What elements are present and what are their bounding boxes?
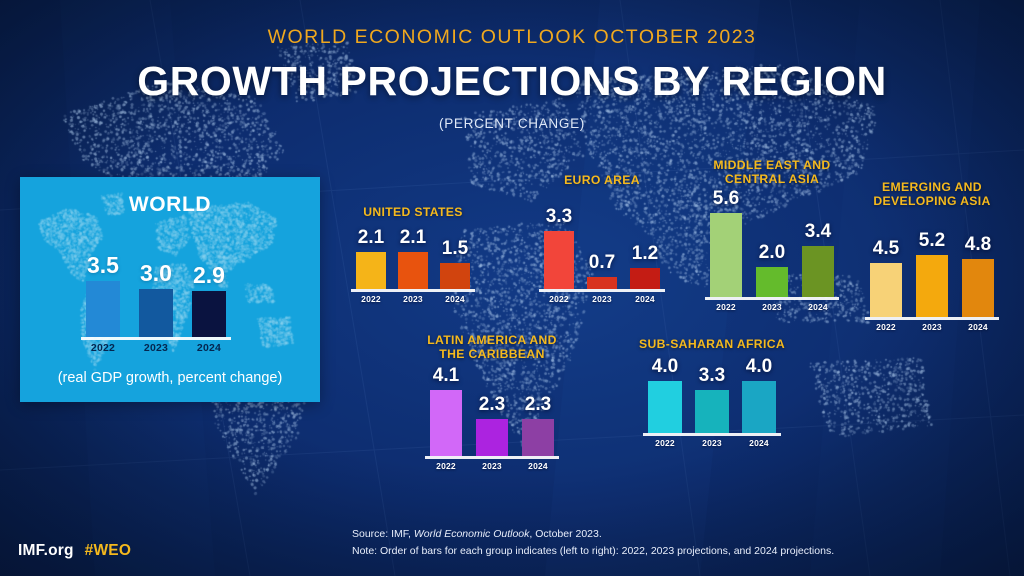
chart-baseline (81, 337, 231, 340)
bar-year-label: 2022 (862, 322, 910, 332)
source-suffix: , October 2023. (529, 528, 601, 540)
bar (522, 419, 554, 456)
region-title: SUB-SAHARAN AFRICA (618, 337, 806, 351)
bar (430, 390, 462, 456)
bar (86, 281, 120, 337)
bar-year-label: 2024 (734, 438, 784, 448)
bar-value-label: 2.3 (512, 394, 564, 416)
chart-baseline (425, 456, 559, 459)
bar-year-label: 2022 (422, 461, 470, 471)
bar (695, 390, 729, 433)
region-title: EMERGING ANDDEVELOPING ASIA (840, 180, 1024, 208)
bar-year-label: 2023 (468, 461, 516, 471)
bar (192, 291, 226, 337)
bar-year-label: 2023 (908, 322, 956, 332)
world-panel-title: WORLD (20, 193, 320, 217)
bar (139, 289, 173, 337)
bar (916, 255, 948, 317)
bar-value-label: 3.0 (129, 260, 183, 287)
bar (476, 419, 508, 456)
bar-value-label: 2.3 (466, 394, 518, 416)
region-chart-group: EMERGING ANDDEVELOPING ASIA4.520225.2202… (862, 0, 1024, 576)
bar (742, 381, 776, 433)
bar-value-label: 4.5 (860, 238, 912, 260)
bar-value-label: 3.5 (76, 252, 130, 279)
region-title-line: THE CARIBBEAN (400, 347, 584, 361)
region-title-line: EMERGING AND (840, 180, 1024, 194)
region-chart-group: LATIN AMERICA ANDTHE CARIBBEAN4.120222.3… (422, 0, 632, 576)
region-title: LATIN AMERICA ANDTHE CARIBBEAN (400, 333, 584, 361)
source-line: Source: IMF, World Economic Outlook, Oct… (352, 526, 834, 543)
region-title-line: SUB-SAHARAN AFRICA (618, 337, 806, 351)
source-prefix: Source: IMF, (352, 528, 414, 540)
chart-baseline (643, 433, 781, 436)
source-publication: World Economic Outlook (414, 528, 530, 540)
bar (962, 259, 994, 317)
imf-org-label[interactable]: IMF.org (18, 542, 74, 559)
world-bar-chart: 3.520223.020232.92024 (80, 232, 265, 342)
bar-value-label: 4.0 (732, 356, 786, 378)
region-chart-group: SUB-SAHARAN AFRICA4.020223.320234.02024 (640, 0, 850, 576)
world-panel: WORLD 3.520223.020232.92024 (real GDP gr… (20, 177, 320, 402)
footer-notes: Source: IMF, World Economic Outlook, Oct… (352, 526, 834, 560)
bar-value-label: 4.1 (420, 365, 472, 387)
bar-year-label: 2024 (184, 342, 234, 354)
bar (870, 263, 902, 317)
note-line: Note: Order of bars for each group indic… (352, 543, 834, 560)
bar-value-label: 4.0 (638, 356, 692, 378)
world-panel-note: (real GDP growth, percent change) (20, 370, 320, 386)
bar-year-label: 2024 (514, 461, 562, 471)
region-title-line: DEVELOPING ASIA (840, 194, 1024, 208)
bar-year-label: 2022 (348, 294, 394, 304)
weo-hashtag-label[interactable]: #WEO (85, 542, 131, 559)
region-title-line: LATIN AMERICA AND (400, 333, 584, 347)
bar (356, 252, 386, 289)
bar-value-label: 2.9 (182, 262, 236, 289)
bar-value-label: 4.8 (952, 234, 1004, 256)
bar-year-label: 2022 (78, 342, 128, 354)
bar-year-label: 2024 (954, 322, 1002, 332)
bar-year-label: 2023 (131, 342, 181, 354)
bar-year-label: 2023 (687, 438, 737, 448)
bar (648, 381, 682, 433)
footer-brand: IMF.org#WEO (18, 542, 131, 560)
chart-baseline (865, 317, 999, 320)
bar-value-label: 3.3 (685, 365, 739, 387)
bar-value-label: 5.2 (906, 230, 958, 252)
bar-year-label: 2022 (640, 438, 690, 448)
